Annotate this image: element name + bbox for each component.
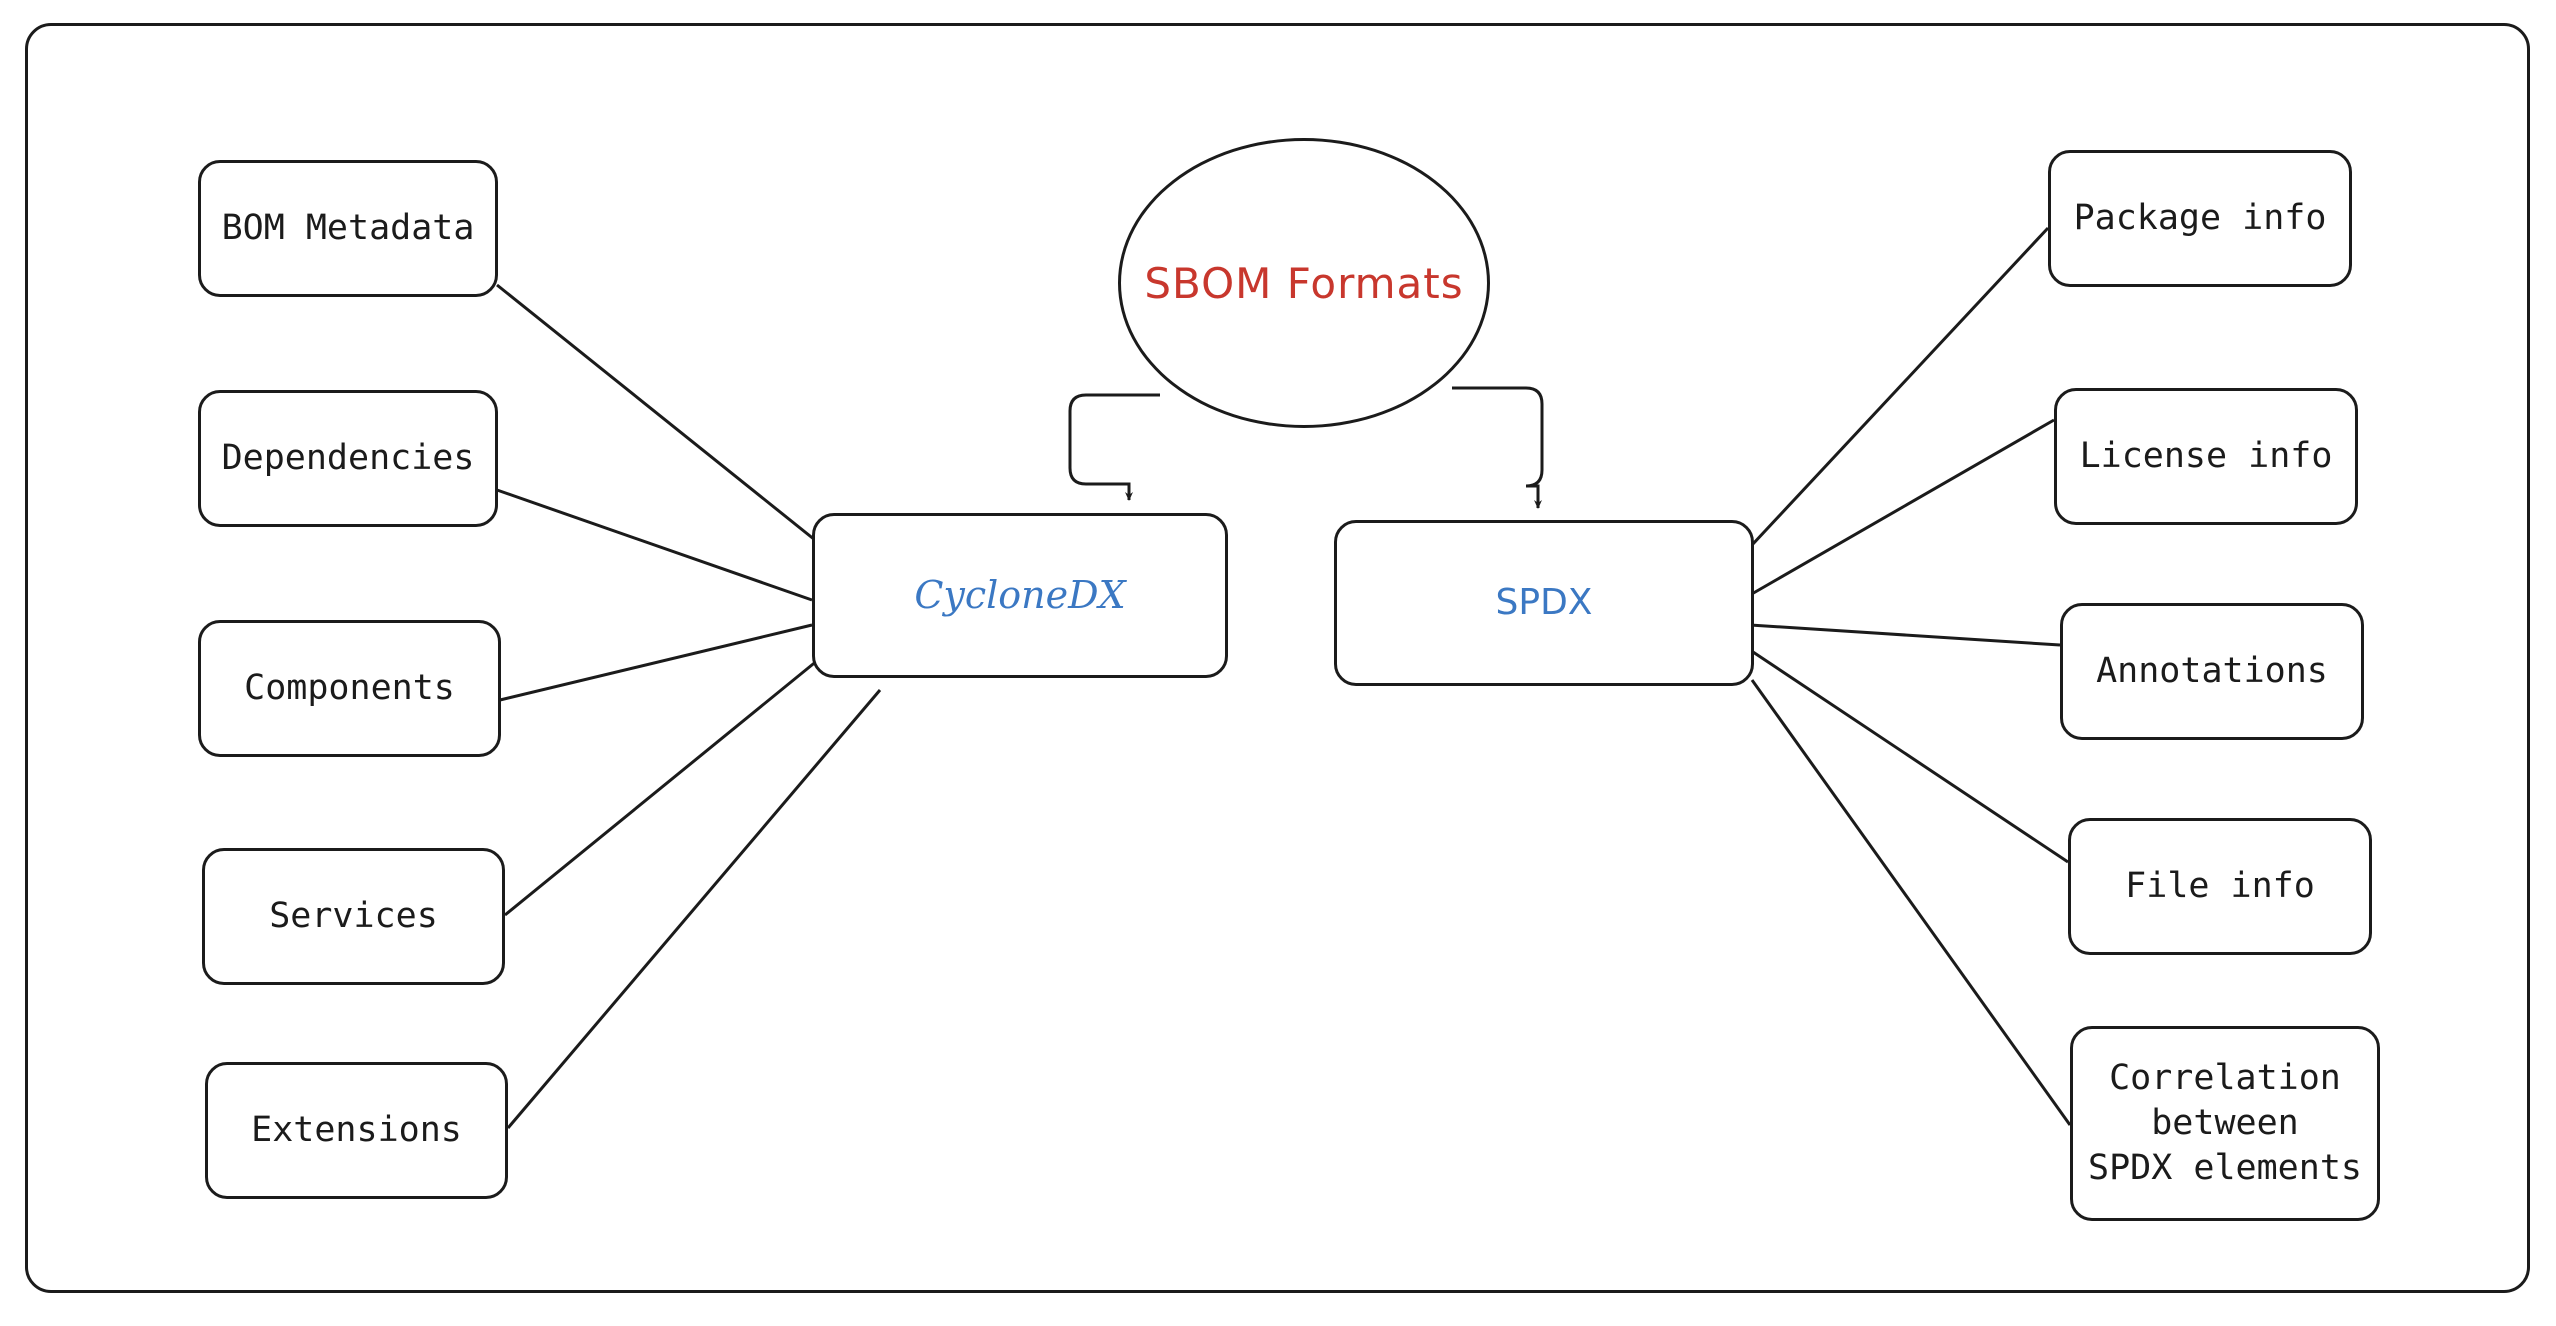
- leaf-node-extensions-label: Extensions: [251, 1108, 462, 1153]
- format-node-spdx-label: SPDX: [1496, 583, 1593, 623]
- leaf-node-services-label: Services: [269, 894, 438, 939]
- format-node-spdx[interactable]: SPDX: [1334, 520, 1754, 686]
- format-node-cyclonedx[interactable]: CycloneDX: [812, 513, 1228, 678]
- format-node-cyclonedx-label: CycloneDX: [914, 575, 1125, 617]
- leaf-node-bom-metadata-label: BOM Metadata: [222, 206, 475, 251]
- diagram-canvas: SBOM Formats CycloneDX SPDX BOM Metadata…: [0, 0, 2556, 1326]
- leaf-node-package-info[interactable]: Package info: [2048, 150, 2352, 287]
- leaf-node-extensions[interactable]: Extensions: [205, 1062, 508, 1199]
- leaf-node-file-info-label: File info: [2125, 864, 2315, 909]
- root-node-label: SBOM Formats: [1144, 259, 1463, 308]
- leaf-node-annotations-label: Annotations: [2096, 649, 2328, 694]
- leaf-node-correlation-label: Correlation between SPDX elements: [2088, 1056, 2362, 1190]
- leaf-node-correlation[interactable]: Correlation between SPDX elements: [2070, 1026, 2380, 1221]
- leaf-node-license-info[interactable]: License info: [2054, 388, 2358, 525]
- leaf-node-file-info[interactable]: File info: [2068, 818, 2372, 955]
- leaf-node-components-label: Components: [244, 666, 455, 711]
- leaf-node-components[interactable]: Components: [198, 620, 501, 757]
- leaf-node-dependencies-label: Dependencies: [222, 436, 475, 481]
- leaf-node-license-info-label: License info: [2080, 434, 2333, 479]
- leaf-node-services[interactable]: Services: [202, 848, 505, 985]
- root-node-sbom-formats[interactable]: SBOM Formats: [1118, 138, 1490, 428]
- leaf-node-bom-metadata[interactable]: BOM Metadata: [198, 160, 498, 297]
- leaf-node-annotations[interactable]: Annotations: [2060, 603, 2364, 740]
- leaf-node-package-info-label: Package info: [2074, 196, 2327, 241]
- leaf-node-dependencies[interactable]: Dependencies: [198, 390, 498, 527]
